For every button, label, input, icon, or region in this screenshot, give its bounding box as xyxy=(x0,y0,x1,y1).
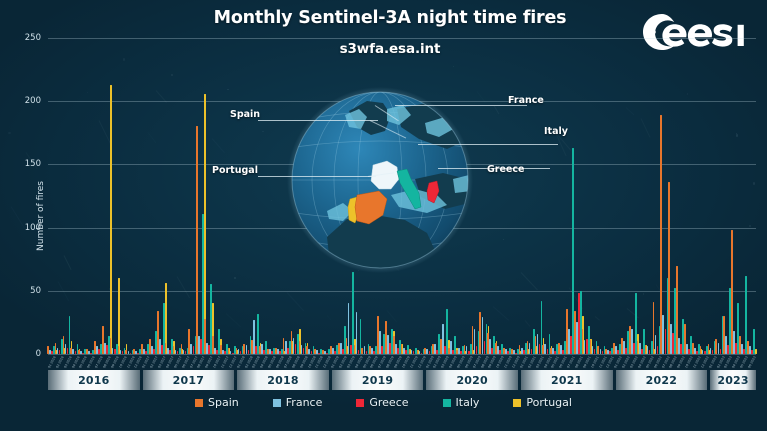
bar-greece-11-2021 xyxy=(602,351,604,354)
year-label-2016: 2016 xyxy=(48,370,140,390)
gridline-0 xyxy=(48,354,756,355)
bar-spain-05-2019 xyxy=(361,348,363,354)
bar-greece-07-2022 xyxy=(665,329,667,354)
bar-greece-10-2018 xyxy=(311,351,313,354)
legend-swatch-spain-icon xyxy=(195,399,203,407)
bar-france-02-2023 xyxy=(718,343,720,354)
leader-line-portugal xyxy=(258,176,376,177)
bar-france-07-2017 xyxy=(190,344,192,354)
callout-portugal: Portugal xyxy=(212,165,258,176)
globe-inset-map xyxy=(287,87,473,273)
year-label-2017: 2017 xyxy=(143,370,235,390)
bar-spain-08-2020 xyxy=(479,312,481,354)
chart-legend: SpainFranceGreeceItalyPortugal xyxy=(0,396,767,409)
year-label-2019: 2019 xyxy=(332,370,424,390)
legend-swatch-portugal-icon xyxy=(513,399,521,407)
bar-france-08-2020 xyxy=(482,317,484,354)
legend-label: France xyxy=(286,396,323,409)
bar-france-11-2021 xyxy=(600,349,602,354)
infographic-canvas: Monthly Sentinel-3A night time fires s3w… xyxy=(0,0,767,431)
x-tick-label: 06-2023 xyxy=(748,356,756,369)
bar-france-01-2020 xyxy=(426,349,428,354)
bar-greece-02-2023 xyxy=(720,349,722,354)
y-tick-label: 250 xyxy=(25,33,48,43)
bar-france-05-2019 xyxy=(364,346,366,354)
year-label-2018: 2018 xyxy=(237,370,329,390)
spark-streak xyxy=(11,206,26,229)
year-axis-band: 20162017201820192020202120222023 xyxy=(48,370,756,390)
bar-spain-03-2021 xyxy=(535,336,537,354)
legend-item-portugal[interactable]: Portugal xyxy=(513,396,572,409)
bar-spain-03-2016 xyxy=(63,336,65,354)
leader-line-spain xyxy=(258,120,378,121)
bar-france-07-2022 xyxy=(662,315,664,354)
year-label-2023: 2023 xyxy=(710,370,756,390)
bar-greece-02-2018 xyxy=(248,350,250,354)
bar-greece-01-2020 xyxy=(429,351,431,354)
bar-greece-07-2017 xyxy=(193,346,195,354)
spark-dot xyxy=(8,132,10,134)
y-tick-label: 200 xyxy=(25,96,48,106)
callout-italy: Italy xyxy=(544,126,568,137)
y-tick-label: 150 xyxy=(25,159,48,169)
legend-item-greece[interactable]: Greece xyxy=(356,396,408,409)
legend-item-spain[interactable]: Spain xyxy=(195,396,239,409)
bar-france-04-2016 xyxy=(72,349,74,354)
legend-swatch-france-icon xyxy=(273,399,281,407)
bar-spain-09-2018 xyxy=(299,341,301,354)
legend-item-france[interactable]: France xyxy=(273,396,323,409)
legend-swatch-greece-icon xyxy=(356,399,364,407)
year-label-2022: 2022 xyxy=(616,370,708,390)
bar-spain-12-2019 xyxy=(417,350,419,354)
callout-spain: Spain xyxy=(230,109,260,120)
page-title: Monthly Sentinel-3A night time fires xyxy=(180,8,600,28)
bar-greece-08-2020 xyxy=(484,341,486,354)
bar-france-10-2018 xyxy=(308,349,310,354)
bar-spain-06-2017 xyxy=(181,344,183,354)
bar-france-04-2021 xyxy=(544,344,546,354)
callout-france: France xyxy=(508,95,544,106)
legend-swatch-italy-icon xyxy=(443,399,451,407)
bar-portugal-08-2016 xyxy=(110,85,112,354)
bar-greece-05-2019 xyxy=(366,351,368,354)
bar-france-11-2016 xyxy=(128,351,130,354)
bar-portugal-06-2023 xyxy=(755,349,757,354)
legend-item-italy[interactable]: Italy xyxy=(443,396,480,409)
callout-greece: Greece xyxy=(487,164,524,175)
bar-spain-02-2023 xyxy=(715,339,717,354)
bar-france-02-2018 xyxy=(246,345,248,354)
bar-spain-11-2016 xyxy=(125,350,127,354)
bar-portugal-08-2017 xyxy=(204,94,206,354)
y-axis-title: Number of fires xyxy=(36,181,46,251)
leader-line-italy xyxy=(418,144,558,145)
bar-spain-02-2018 xyxy=(243,344,245,354)
bar-greece-04-2021 xyxy=(547,349,549,354)
year-label-2020: 2020 xyxy=(426,370,518,390)
legend-label: Italy xyxy=(456,396,480,409)
legend-label: Spain xyxy=(208,396,239,409)
bar-portugal-09-2016 xyxy=(118,278,120,354)
legend-label: Portugal xyxy=(526,396,572,409)
bar-greece-04-2016 xyxy=(75,351,77,354)
bar-spain-08-2017 xyxy=(196,126,198,354)
legend-label: Greece xyxy=(369,396,408,409)
bar-greece-11-2016 xyxy=(130,353,132,354)
bar-spain-11-2021 xyxy=(597,346,599,354)
bar-spain-06-2022 xyxy=(653,302,655,354)
y-tick-label: 50 xyxy=(30,286,48,296)
year-label-2021: 2021 xyxy=(521,370,613,390)
bar-france-04-2019 xyxy=(356,312,358,354)
